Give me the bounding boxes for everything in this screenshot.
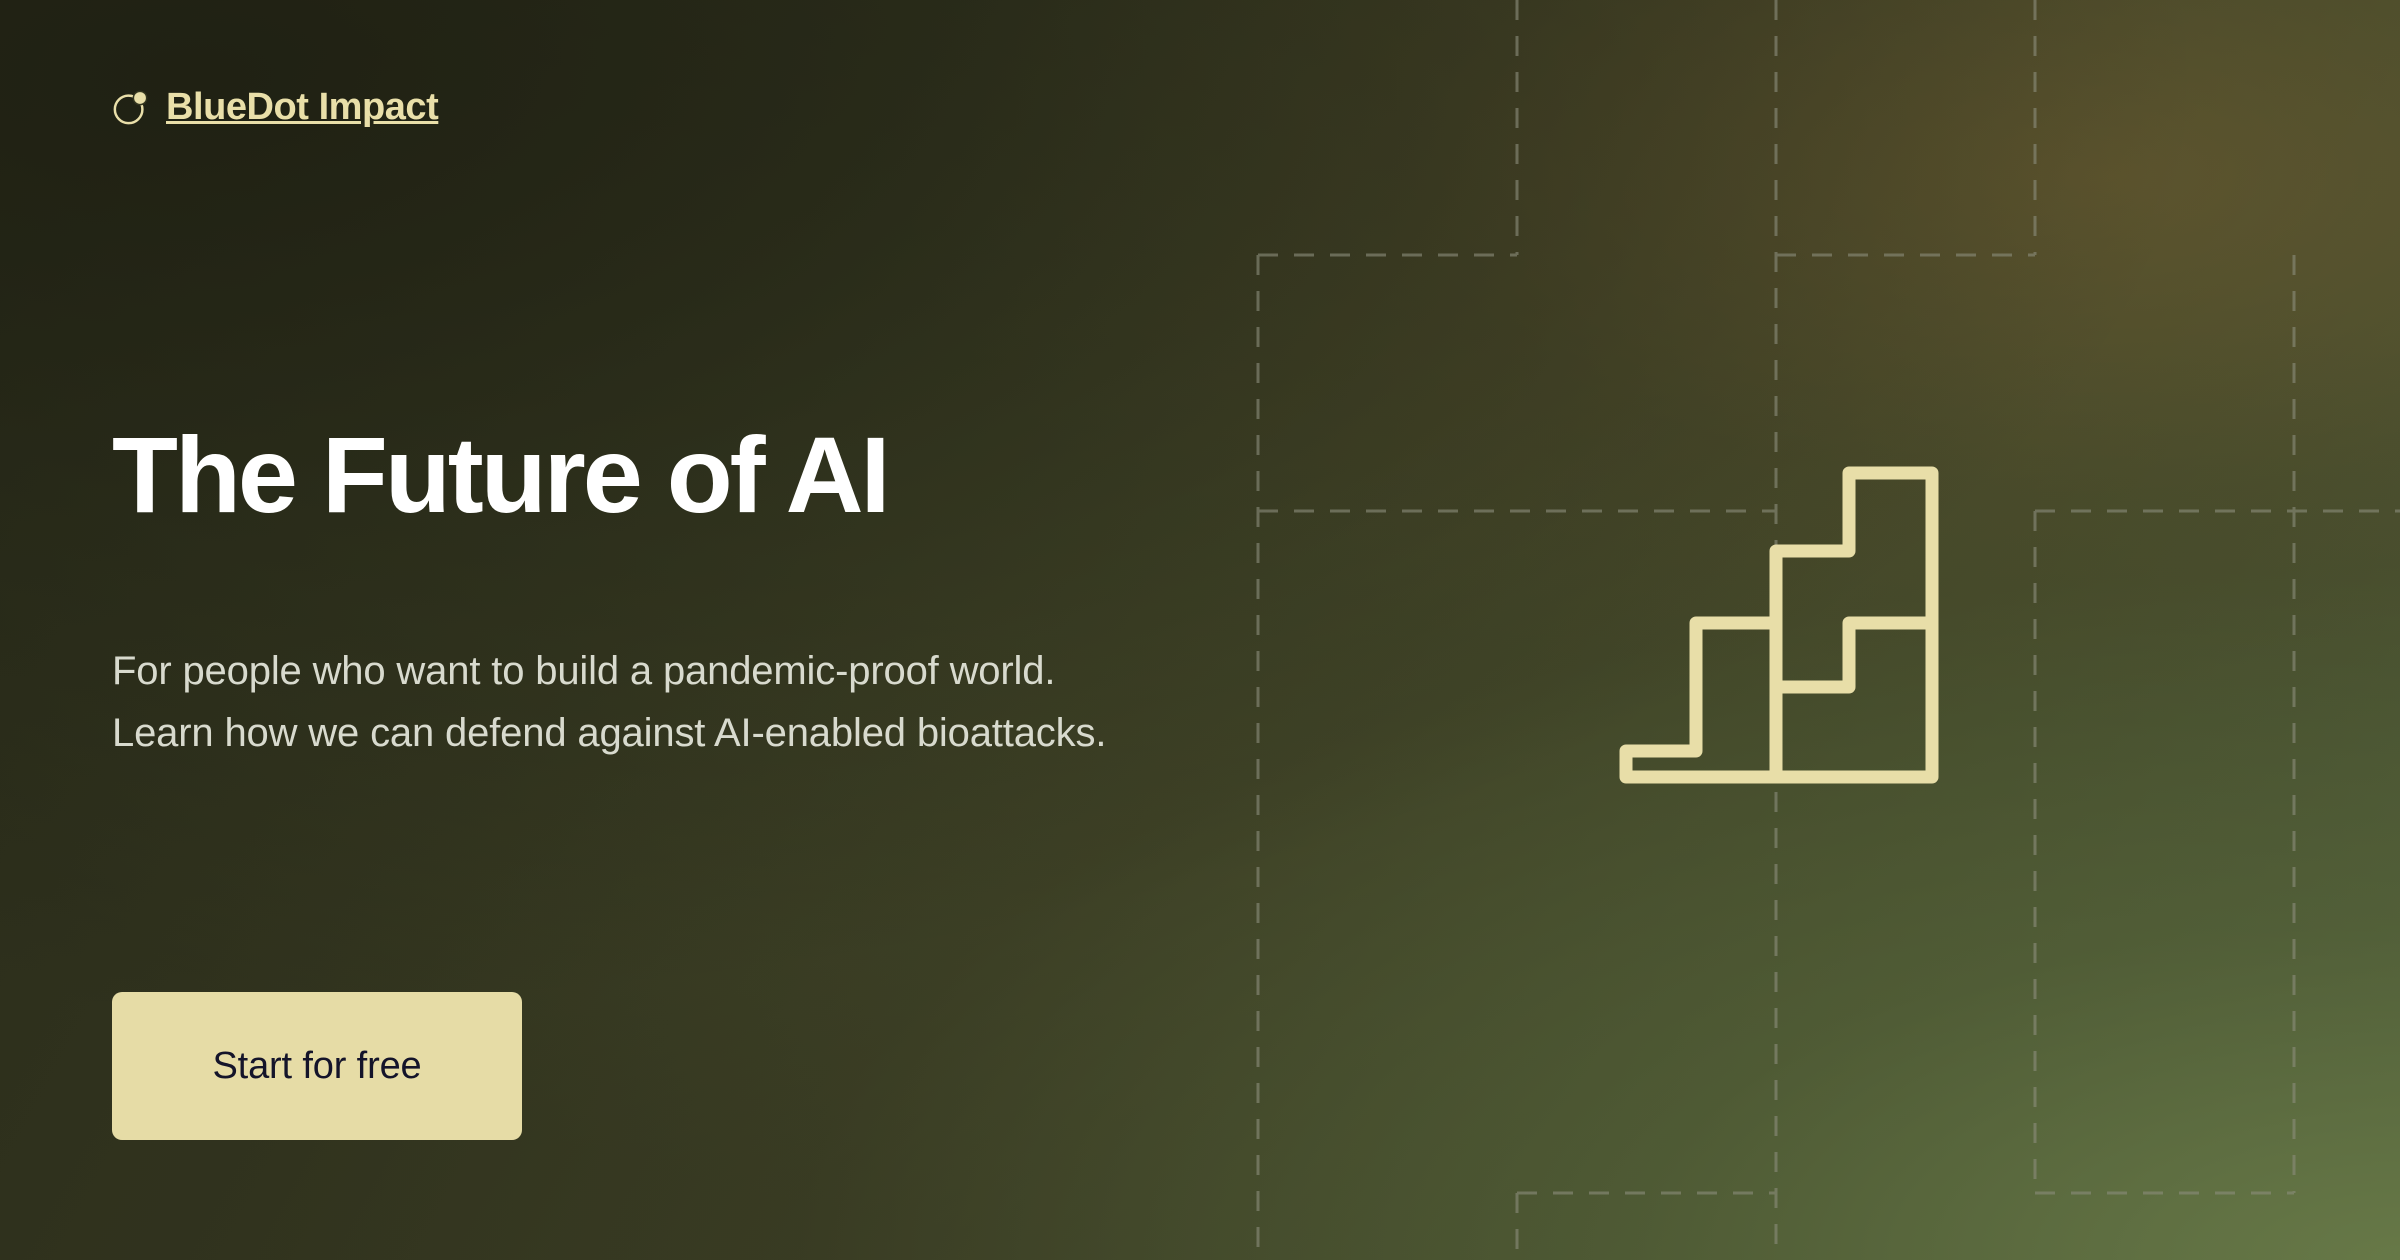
page-title: The Future of AI xyxy=(112,418,888,532)
bluedot-circle-icon xyxy=(112,88,150,126)
start-for-free-button[interactable]: Start for free xyxy=(112,992,522,1140)
brand-logo[interactable]: BlueDot Impact xyxy=(112,88,438,126)
hero-subtitle: For people who want to build a pandemic-… xyxy=(112,640,1112,764)
brand-name: BlueDot Impact xyxy=(166,88,438,126)
stepped-bars-mark xyxy=(1610,455,1950,795)
hero-section: BlueDot Impact The Future of AI For peop… xyxy=(0,0,2400,1260)
hero-content: BlueDot Impact The Future of AI For peop… xyxy=(112,0,1232,1260)
